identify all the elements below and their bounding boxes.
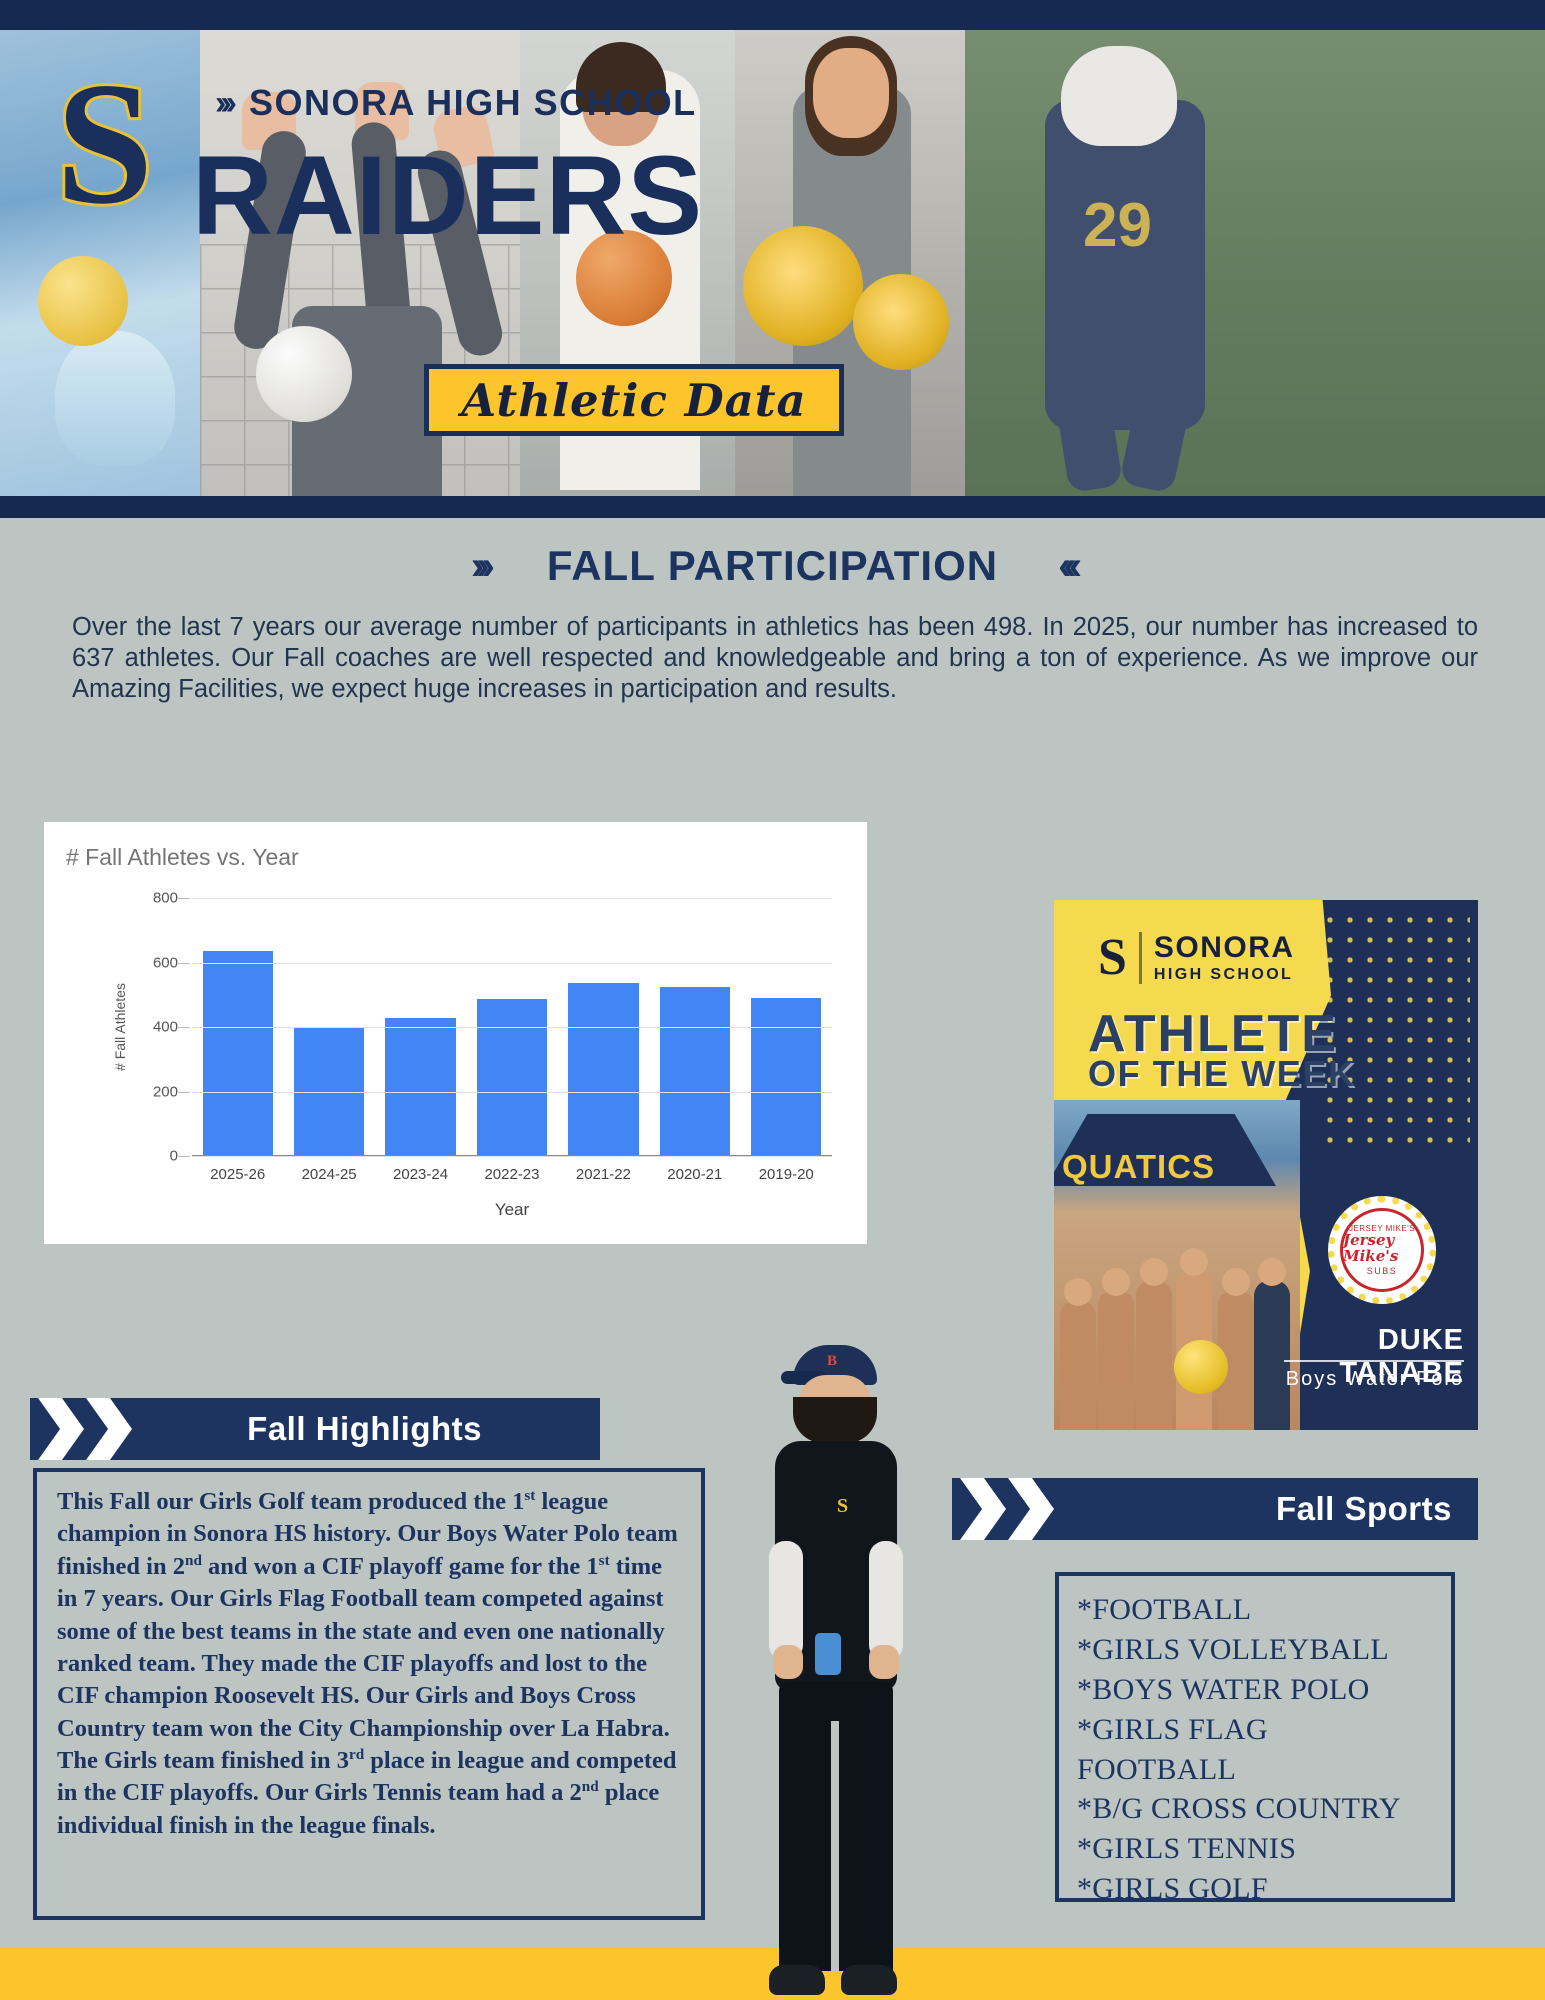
athletic-data-label: Athletic Data bbox=[461, 374, 806, 427]
poster-logo-sub: HIGH SCHOOL bbox=[1154, 966, 1295, 984]
sponsor-logo-jersey-mikes: JERSEY MIKE'S Jersey Mike's SUBS bbox=[1328, 1196, 1436, 1304]
chart-y-axis-label: # Fall Athletes bbox=[112, 983, 128, 1071]
fall-sports-item: *B/G CROSS COUNTRY bbox=[1077, 1789, 1433, 1829]
chart-bar[interactable] bbox=[568, 983, 638, 1156]
bottom-accent-bar-left bbox=[0, 1948, 745, 2000]
chart-gridline bbox=[192, 1027, 832, 1028]
chart-y-tick-label: 200 bbox=[153, 1083, 178, 1100]
chart-gridline bbox=[192, 1092, 832, 1093]
chart-gridline bbox=[192, 963, 832, 964]
chart-bar[interactable] bbox=[751, 998, 821, 1156]
chart-bar[interactable] bbox=[203, 951, 273, 1156]
school-logo-s: S bbox=[56, 56, 149, 231]
school-name-text: SONORA HIGH SCHOOL bbox=[249, 82, 697, 123]
poster-divider bbox=[1284, 1360, 1464, 1362]
fall-participation-heading: ›››FALL PARTICIPATION‹‹‹ bbox=[0, 542, 1545, 590]
chart-bar[interactable] bbox=[660, 987, 730, 1156]
chart-x-tick-label: 2021-22 bbox=[568, 1166, 638, 1183]
fall-sports-list: *FOOTBALL*GIRLS VOLLEYBALL*BOYS WATER PO… bbox=[1077, 1590, 1433, 1909]
water-polo-ball-icon bbox=[1174, 1340, 1228, 1394]
page-title: FALL PARTICIPATION bbox=[547, 542, 998, 590]
fall-sports-item: *FOOTBALL bbox=[1077, 1590, 1433, 1630]
chart-gridline bbox=[192, 898, 832, 899]
poster-team-photo: QUATICS bbox=[1054, 1100, 1300, 1430]
chart-gridline bbox=[192, 1156, 832, 1157]
fall-sports-item: *GIRLS VOLLEYBALL bbox=[1077, 1630, 1433, 1670]
chart-y-tick-label: 600 bbox=[153, 954, 178, 971]
ribbon-chevrons bbox=[30, 1398, 150, 1460]
chart-x-tick-label: 2022-23 bbox=[477, 1166, 547, 1183]
chart-bar[interactable] bbox=[477, 999, 547, 1156]
golfer-photo-cutout: B S bbox=[745, 1345, 925, 2000]
school-name: ›››SONORA HIGH SCHOOL bbox=[215, 82, 697, 124]
fall-highlights-box: This Fall our Girls Golf team produced t… bbox=[33, 1468, 705, 1920]
fall-athletes-chart-card: # Fall Athletes vs. Year # Fall Athletes… bbox=[44, 822, 867, 1244]
fall-sports-item: *GIRLS GOLF bbox=[1077, 1869, 1433, 1909]
poster-tent-text: QUATICS bbox=[1062, 1148, 1215, 1186]
fall-sports-item: *GIRLS TENNIS bbox=[1077, 1829, 1433, 1869]
sponsor-sub: SUBS bbox=[1367, 1266, 1398, 1276]
fall-sports-title: Fall Sports bbox=[1276, 1490, 1452, 1528]
fall-sports-item: *GIRLS FLAG FOOTBALL bbox=[1077, 1710, 1433, 1790]
hero-bottom-accent bbox=[0, 496, 1545, 518]
top-accent-strip bbox=[0, 0, 1545, 30]
ribbon-chevrons bbox=[952, 1478, 1072, 1540]
team-name: RAIDERS bbox=[192, 140, 703, 252]
poster-headline-secondary: OF THE WEEK bbox=[1088, 1056, 1356, 1092]
chart-x-tick-labels: 2025-262024-252023-242022-232021-222020-… bbox=[192, 1166, 832, 1183]
chart-x-tick-label: 2025-26 bbox=[203, 1166, 273, 1183]
chart-plot-area: 0200400600800 bbox=[192, 898, 832, 1156]
fall-sports-ribbon: Fall Sports bbox=[952, 1478, 1478, 1540]
chart-title: # Fall Athletes vs. Year bbox=[66, 844, 299, 871]
intro-paragraph: Over the last 7 years our average number… bbox=[72, 612, 1478, 705]
hero-banner: 29 S ›››SONORA HIGH SCHOOL RAIDERS Athle… bbox=[0, 30, 1545, 496]
fall-highlights-title: Fall Highlights bbox=[247, 1410, 482, 1448]
athletic-data-banner: Athletic Data bbox=[424, 364, 844, 436]
sponsor-name: Jersey Mike's bbox=[1343, 1233, 1421, 1265]
poster-school-logo: S SONORA HIGH SCHOOL bbox=[1098, 932, 1295, 984]
chevron-right-icon: ››› bbox=[215, 84, 231, 123]
athlete-of-the-week-poster: S SONORA HIGH SCHOOL ATHLETE OF THE WEEK… bbox=[1054, 900, 1478, 1430]
chart-y-tick-label: 800 bbox=[153, 890, 178, 907]
chart-x-axis-label: Year bbox=[192, 1200, 832, 1220]
fall-highlights-text: This Fall our Girls Golf team produced t… bbox=[57, 1486, 683, 1842]
fall-sports-item: *BOYS WATER POLO bbox=[1077, 1670, 1433, 1710]
poster-team-group bbox=[1054, 1230, 1300, 1430]
chart-x-tick-label: 2019-20 bbox=[751, 1166, 821, 1183]
chart-x-tick-label: 2023-24 bbox=[385, 1166, 455, 1183]
fall-highlights-ribbon: Fall Highlights bbox=[30, 1398, 600, 1460]
chart-bar[interactable] bbox=[385, 1018, 455, 1156]
athlete-sport: Boys Water Polo bbox=[1284, 1368, 1464, 1391]
chart-x-tick-label: 2020-21 bbox=[660, 1166, 730, 1183]
chevron-left-triple-icon: ‹‹‹ bbox=[1058, 544, 1074, 589]
fall-sports-box: *FOOTBALL*GIRLS VOLLEYBALL*BOYS WATER PO… bbox=[1055, 1572, 1455, 1902]
chart-y-tick-label: 400 bbox=[153, 1019, 178, 1036]
chevron-right-triple-icon: ››› bbox=[471, 544, 487, 589]
chart-y-tick-label: 0 bbox=[170, 1148, 178, 1165]
poster-halftone-dots bbox=[1320, 910, 1470, 1150]
chart-x-tick-label: 2024-25 bbox=[294, 1166, 364, 1183]
poster-logo-s: S bbox=[1098, 932, 1127, 984]
poster-logo-name: SONORA bbox=[1154, 933, 1295, 963]
